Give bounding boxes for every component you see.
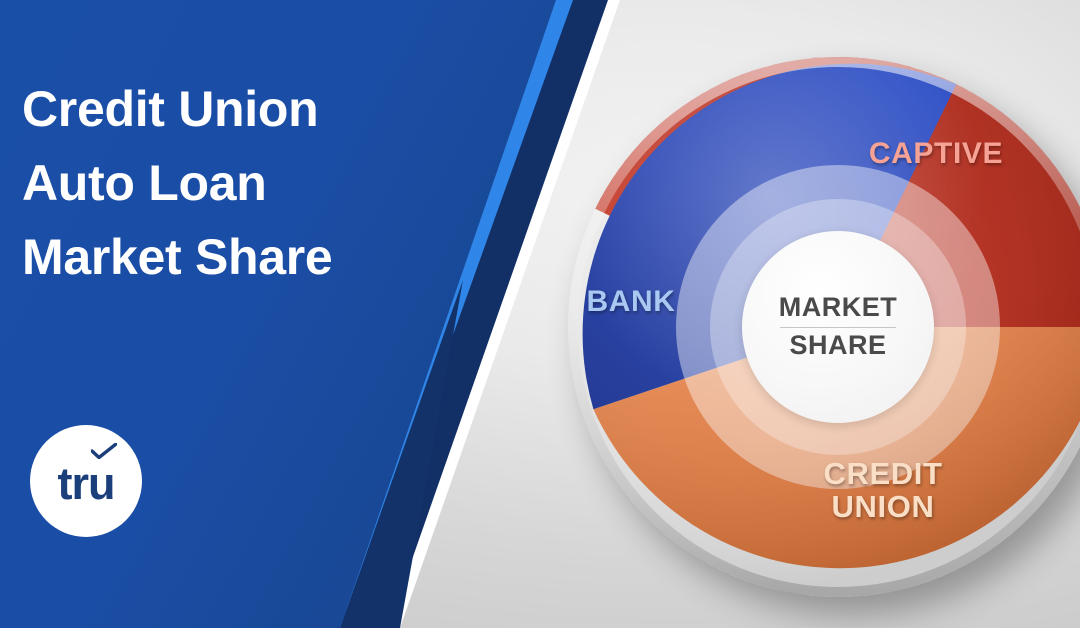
center-label-share: SHARE bbox=[789, 330, 886, 362]
check-icon bbox=[91, 443, 117, 459]
slice-label-captive: CAPTIVE bbox=[836, 139, 1036, 169]
page-title: Credit Union Auto Loan Market Share bbox=[22, 72, 442, 294]
title-line-1: Credit Union bbox=[22, 72, 442, 146]
logo-wordmark-wrap: tru bbox=[58, 457, 115, 506]
logo-wordmark: tru bbox=[58, 458, 115, 509]
tru-logo[interactable]: tru bbox=[30, 425, 142, 537]
slice-label-credit-union: CREDIT UNION bbox=[788, 457, 978, 524]
chart-center-hub: MARKET SHARE bbox=[742, 231, 934, 423]
title-line-2: Auto Loan bbox=[22, 146, 442, 220]
center-divider bbox=[780, 327, 896, 328]
title-line-3: Market Share bbox=[22, 220, 442, 294]
center-label-market: MARKET bbox=[779, 292, 898, 324]
infographic-canvas: MARKET SHARE CAPTIVE BANK CREDIT UNION C… bbox=[0, 0, 1080, 628]
